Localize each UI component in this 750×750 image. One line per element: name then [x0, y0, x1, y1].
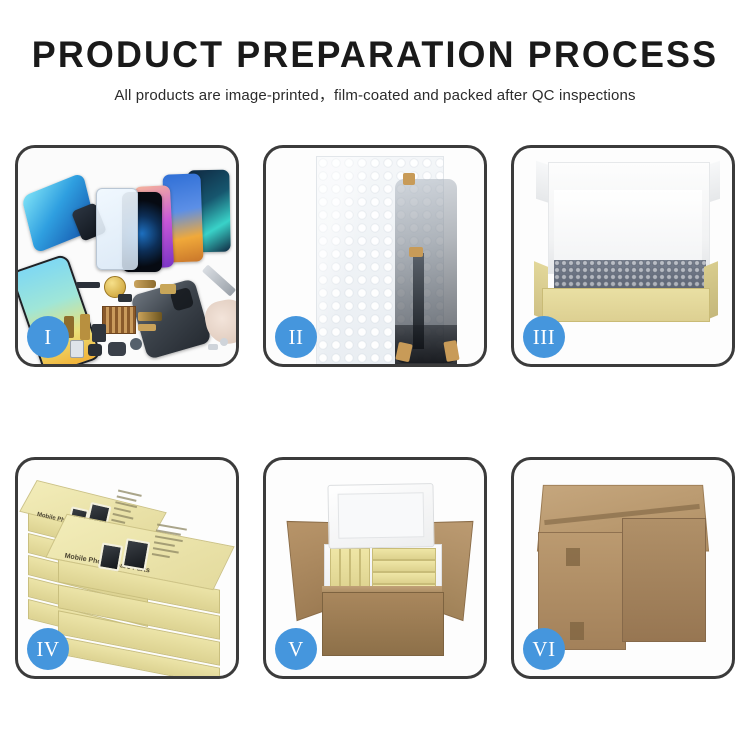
carton-right-face: [622, 518, 706, 642]
step-badge-5: V: [275, 628, 317, 670]
process-step-panel-1[interactable]: I: [15, 145, 239, 367]
carton-front-wall: [322, 592, 444, 656]
logic-board-part: [102, 306, 136, 334]
box-interior: [554, 190, 702, 264]
process-step-panel-2[interactable]: II: [263, 145, 487, 367]
bubble-wrap-bag: [316, 156, 444, 364]
carton-tape-lower: [570, 622, 584, 640]
step-badge-2: II: [275, 316, 317, 358]
step-badge-4: IV: [27, 628, 69, 670]
foam-lid: [327, 483, 434, 549]
step-badge-3: III: [523, 316, 565, 358]
screen-protector-glass: [96, 188, 138, 270]
step-badge-6: VI: [523, 628, 565, 670]
process-step-panel-6[interactable]: VI: [511, 457, 735, 679]
page-subtitle: All products are image-printed，film-coat…: [0, 84, 750, 105]
yellow-box-front: [542, 288, 710, 322]
page-header: PRODUCT PREPARATION PROCESS All products…: [0, 0, 750, 105]
process-step-panel-4[interactable]: Mobile Phone Spare Parts Mobile Phone Sp…: [15, 457, 239, 679]
process-step-grid: I II III: [15, 145, 735, 679]
page-title: PRODUCT PREPARATION PROCESS: [11, 36, 739, 75]
process-step-panel-3[interactable]: III: [511, 145, 735, 367]
carton-tape-upper: [566, 548, 580, 566]
process-step-panel-5[interactable]: V: [263, 457, 487, 679]
step-badge-1: I: [27, 316, 69, 358]
